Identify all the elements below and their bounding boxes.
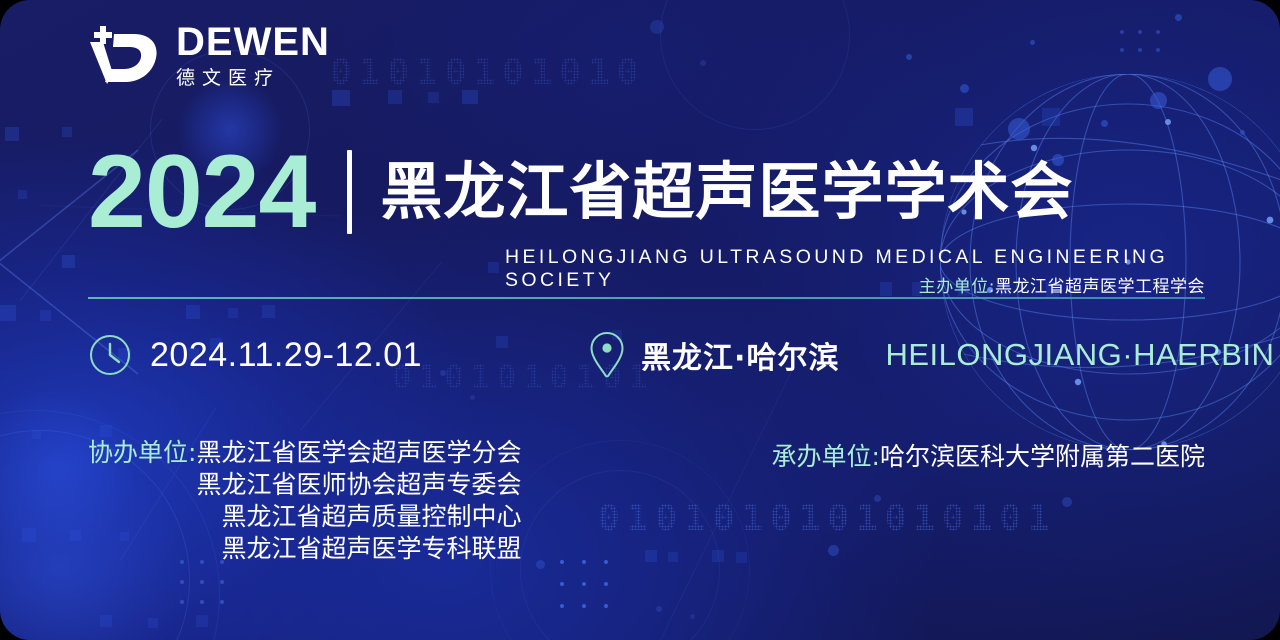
bokeh-dot <box>906 54 912 60</box>
vd-plus-monogram-icon <box>88 24 162 86</box>
event-place-group: 黑龙江·哈尔滨 HEILONGJIANG·HAERBIN <box>589 330 1274 380</box>
organizer-label: 主办单位: <box>919 277 995 297</box>
decor-square <box>70 530 81 541</box>
bokeh-dot <box>1150 92 1167 109</box>
location-pin-icon <box>589 330 625 380</box>
event-year: 2024 <box>88 140 315 244</box>
conference-poster: 01010101010 0101010101 0101010101010101 <box>0 0 1280 640</box>
decor-square <box>668 552 678 562</box>
bokeh-dot <box>1101 120 1108 127</box>
bokeh-dot <box>1175 14 1182 21</box>
decor-square <box>228 308 238 318</box>
binary-text-bottom: 0101010101010101 <box>598 498 1057 539</box>
decor-square <box>712 550 724 562</box>
brand-name-cn: 德文医疗 <box>176 69 330 88</box>
decor-square <box>462 90 478 104</box>
support-line: 协办单位:黑龙江省医学会超声医学分会 <box>88 437 521 469</box>
host-value: 哈尔滨医科大学附属第二医院 <box>880 442 1205 471</box>
decor-square <box>40 310 51 321</box>
support-value: 黑龙江省医学会超声医学分会 <box>196 438 521 467</box>
decor-square <box>18 190 27 199</box>
decor-square <box>488 262 499 273</box>
bokeh-dot <box>828 545 839 556</box>
decor-square <box>955 108 973 126</box>
decor-square <box>196 615 208 627</box>
host-unit-line: 承办单位:哈尔滨医科大学附属第二医院 <box>772 437 1205 473</box>
decor-square <box>148 618 158 628</box>
support-label: 协办单位: <box>88 438 196 467</box>
bokeh-dot <box>960 84 969 93</box>
bokeh-dot <box>1240 130 1245 135</box>
decor-square <box>332 90 350 106</box>
support-line: 黑龙江省超声质量控制中心 <box>88 501 521 533</box>
decor-square <box>100 615 112 627</box>
brand-logo-text: DEWEN 德文医疗 <box>176 22 330 88</box>
bokeh-dot <box>690 614 695 619</box>
event-date: 2024.11.29-12.01 <box>150 336 422 375</box>
event-meta-row: 2024.11.29-12.01 黑龙江·哈尔滨 HEILONGJIANG·HA… <box>88 330 1274 380</box>
decor-square <box>62 127 72 137</box>
support-line: 黑龙江省医师协会超声专委会 <box>88 469 521 501</box>
decor-square <box>388 90 402 104</box>
decor-ring-5 <box>490 440 750 640</box>
decor-square <box>32 430 41 439</box>
decor-square <box>262 305 275 318</box>
support-line: 黑龙江省超声医学专科联盟 <box>88 533 521 565</box>
decor-square <box>736 552 747 563</box>
decor-square <box>5 127 19 141</box>
decor-ring-4 <box>520 470 720 640</box>
binary-text-top: 01010101010 <box>330 52 645 93</box>
headline-block: 2024 黑龙江省超声医学学术会 <box>88 140 1073 244</box>
bokeh-dot <box>1208 67 1232 91</box>
decor-square <box>186 305 200 319</box>
section-divider <box>88 297 1205 299</box>
brand-logo[interactable]: DEWEN 德文医疗 <box>88 22 330 88</box>
headline-divider-bar <box>347 150 352 234</box>
decor-square <box>1042 108 1060 126</box>
decor-square <box>428 92 439 103</box>
event-date-group: 2024.11.29-12.01 <box>88 333 422 377</box>
decor-square <box>22 528 36 542</box>
bokeh-dot <box>536 560 545 569</box>
event-place-cn: 黑龙江·哈尔滨 <box>641 333 839 377</box>
brand-name: DEWEN <box>176 22 330 62</box>
bokeh-dot <box>700 60 706 66</box>
bokeh-dot <box>874 495 881 502</box>
bokeh-dot <box>1062 497 1072 507</box>
bokeh-dot <box>1008 118 1030 140</box>
host-label: 承办单位: <box>772 442 880 471</box>
organizer-value: 黑龙江省超声医学工程学会 <box>995 277 1205 297</box>
organizer-line: 主办单位:黑龙江省超声医学工程学会 <box>919 272 1205 297</box>
support-units-block: 协办单位:黑龙江省医学会超声医学分会 黑龙江省医师协会超声专委会 黑龙江省超声质… <box>88 437 521 565</box>
decor-square <box>645 550 657 562</box>
bokeh-dot <box>656 606 662 612</box>
decor-square <box>62 255 75 268</box>
bokeh-dot <box>650 20 664 34</box>
decor-square <box>0 305 16 321</box>
event-place-en: HEILONGJIANG·HAERBIN <box>885 337 1274 373</box>
diagonal-line-4 <box>660 370 792 640</box>
decor-square <box>100 425 112 437</box>
event-title-cn: 黑龙江省超声医学学术会 <box>380 161 1073 223</box>
bokeh-dot <box>470 395 475 400</box>
bokeh-dot <box>1030 40 1035 45</box>
decor-ring-6 <box>660 0 850 130</box>
clock-icon <box>88 333 132 377</box>
